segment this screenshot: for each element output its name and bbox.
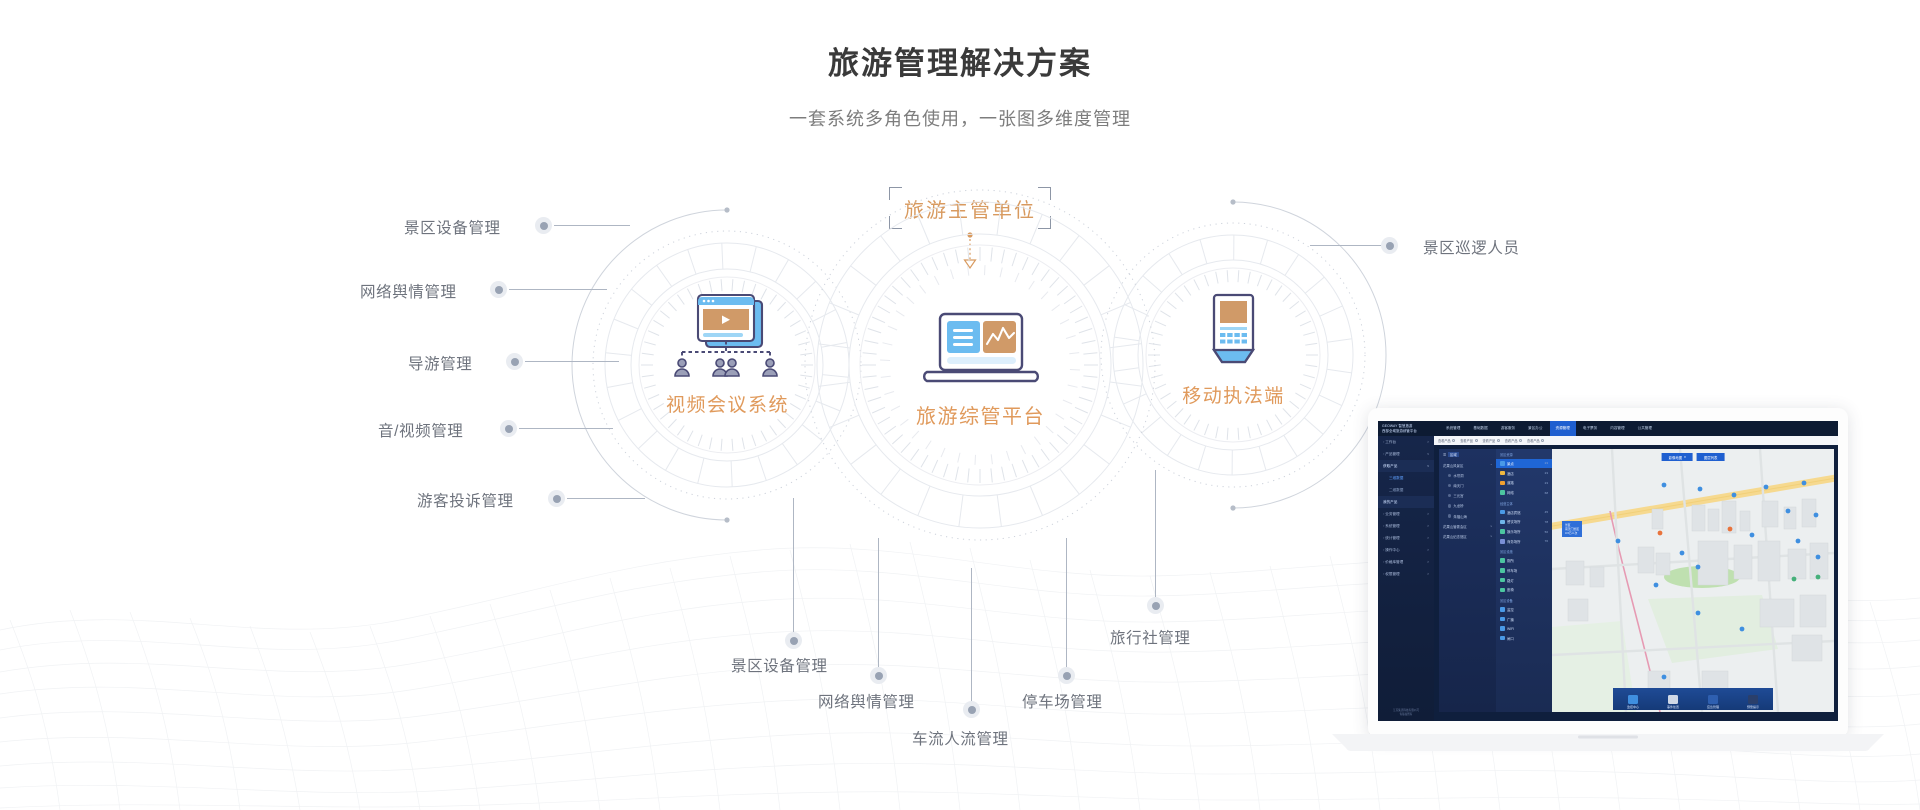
sidebar-item-label-4: 二维数据 xyxy=(1389,488,1403,493)
node-tourism-platform: 旅游综管平台 xyxy=(893,300,1068,435)
layer-swatch-icon-1-2 xyxy=(1500,529,1505,534)
tree-item-label-2: 南天门 xyxy=(1453,483,1463,488)
tree-item-7[interactable]: 花果山纪念馆区v xyxy=(1439,531,1496,541)
node-label-tourism-platform: 旅游综管平台 xyxy=(893,400,1068,429)
tab-1[interactable]: 查看产品 xyxy=(1460,438,1477,443)
map-dock-icon-2 xyxy=(1708,695,1718,704)
map-chip-1[interactable]: 图层列表 xyxy=(1697,453,1725,461)
layer-swatch-icon-2-1 xyxy=(1500,568,1505,573)
sidebar-list[interactable]: ◦ 工作台>◦ 产品管理v获取产品v三维数据二维数据我的产品◦ 业务管理>◦ 系… xyxy=(1378,436,1434,580)
tab-4[interactable]: 查看产品 xyxy=(1527,438,1544,443)
layer-item-3-1[interactable]: 广播 xyxy=(1496,614,1552,624)
region-tree-list[interactable]: 花果山风景区^水帘洞南天门三元宫九龙桥朱福山海花果山管委会区v花果山纪念馆区v xyxy=(1439,460,1496,542)
sidebar-chevron-icon-2: v xyxy=(1427,464,1429,468)
topnav-item-7[interactable]: 公共管理 xyxy=(1632,421,1658,436)
page-title: 旅游管理解决方案 xyxy=(0,38,1920,83)
leaf-dot-left-0[interactable] xyxy=(535,217,552,234)
tree-item-0[interactable]: 花果山风景区^ xyxy=(1439,460,1496,470)
tree-item-3[interactable]: 三元宫 xyxy=(1439,491,1496,501)
layer-swatch-icon-0-3 xyxy=(1500,490,1505,495)
tab-label-0: 查看产品 xyxy=(1438,438,1451,443)
layer-item-3-0[interactable]: 监控 xyxy=(1496,604,1552,614)
map-dock-label-3: 预警提示 xyxy=(1747,705,1759,709)
layer-item-0-3[interactable]: 网络68 xyxy=(1496,488,1552,498)
map-canvas xyxy=(1552,449,1834,712)
sidebar-item-9[interactable]: ◦ 操作中心> xyxy=(1378,544,1434,556)
tree-item-label-7: 花果山纪念馆区 xyxy=(1443,534,1467,539)
map-info-popup: 景区南天门景区3.6万人次 xyxy=(1562,521,1582,537)
sidebar-item-label-5: 我的产品 xyxy=(1383,500,1397,505)
sidebar-item-label-7: ◦ 系统管理 xyxy=(1383,524,1400,529)
node-label-mobile-enforcement: 移动执法端 xyxy=(1146,381,1321,408)
sidebar-item-5[interactable]: 我的产品 xyxy=(1378,496,1434,508)
layer-item-2-1[interactable]: 停车场 xyxy=(1496,566,1552,576)
map-dock-item-0[interactable]: 监控中心 xyxy=(1627,695,1639,709)
sidebar-item-label-2: 获取产品 xyxy=(1383,464,1397,469)
layer-item-0-2[interactable]: 道路23 xyxy=(1496,478,1552,488)
layer-item-1-1[interactable]: 餐饮场所78 xyxy=(1496,517,1552,527)
map-dock-label-1: 事件处置 xyxy=(1667,705,1679,709)
leaf-dot-bottom-0[interactable] xyxy=(785,632,802,649)
layer-swatch-icon-3-3 xyxy=(1500,636,1505,641)
sidebar-item-2[interactable]: 获取产品v xyxy=(1378,460,1434,472)
layer-swatch-icon-1-3 xyxy=(1500,539,1505,544)
tab-2[interactable]: 查看产品 xyxy=(1483,438,1500,443)
layer-item-label-2-2: 路灯 xyxy=(1507,578,1514,583)
layer-swatch-icon-2-3 xyxy=(1500,588,1505,593)
leaf-line-bottom-0 xyxy=(793,498,794,633)
layer-item-count-0-3: 68 xyxy=(1545,491,1548,495)
map-bottom-dock[interactable]: 监控中心事件处置应急管理预警提示 xyxy=(1613,688,1773,710)
app-tabstrip[interactable]: 查看产品查看产品查看产品查看产品查看产品 xyxy=(1434,436,1838,445)
tab-label-4: 查看产品 xyxy=(1527,438,1540,443)
sidebar-item-label-0: ◦ 工作台 xyxy=(1383,440,1396,445)
leaf-label-bottom-0: 景区设备管理 xyxy=(731,654,828,676)
solution-diagram-page: 旅游管理解决方案 一套系统多角色使用，一张图多维度管理 旅游主管单位 xyxy=(0,0,1920,810)
tree-bullet-icon-4 xyxy=(1448,504,1451,507)
map-dock-item-1[interactable]: 事件处置 xyxy=(1667,695,1679,709)
sidebar-item-label-1: ◦ 产品管理 xyxy=(1383,452,1400,457)
tree-item-label-3: 三元宫 xyxy=(1453,493,1463,498)
laptop-dashboard-icon xyxy=(893,300,1068,400)
map-dock-item-3[interactable]: 预警提示 xyxy=(1747,695,1759,709)
sidebar-item-label-11: ◦ 权限管理 xyxy=(1383,572,1400,577)
tree-bullet-icon-2 xyxy=(1448,484,1451,487)
tab-close-icon-2[interactable] xyxy=(1497,439,1500,442)
sidebar-item-0[interactable]: ◦ 工作台> xyxy=(1378,436,1434,448)
leaf-dot-left-3[interactable] xyxy=(500,420,517,437)
sidebar-chevron-icon-11: > xyxy=(1427,572,1429,576)
layer-group-title-2: 景区设施 xyxy=(1496,546,1552,556)
leaf-line-bottom-3 xyxy=(1066,538,1067,668)
leaf-dot-right-0[interactable] xyxy=(1381,237,1398,254)
topnav-item-3[interactable]: 景区办公 xyxy=(1522,421,1548,436)
leaf-line-left-1 xyxy=(509,289,607,290)
layer-swatch-icon-3-2 xyxy=(1500,626,1505,631)
leaf-line-bottom-4 xyxy=(1155,470,1156,598)
map-chip-group[interactable]: 影像地图v图层列表 xyxy=(1662,453,1725,461)
leaf-dot-bottom-1[interactable] xyxy=(870,667,887,684)
map-dock-label-0: 监控中心 xyxy=(1627,705,1639,709)
sidebar-chevron-icon-10: > xyxy=(1427,560,1429,564)
tab-label-3: 查看产品 xyxy=(1505,438,1518,443)
layer-swatch-icon-0-1 xyxy=(1500,471,1505,476)
layer-group-title-1: 经营主体 xyxy=(1496,498,1552,508)
app-window: GEOWAY 智慧旅游 西部全域旅游综管平台 系统管理基础数据游客服务景区办公资… xyxy=(1378,421,1838,721)
tree-bullet-icon-1 xyxy=(1448,474,1451,477)
tree-item-label-5: 朱福山海 xyxy=(1453,514,1467,519)
laptop-base xyxy=(1332,734,1884,752)
sidebar-chevron-icon-7: > xyxy=(1427,524,1429,528)
sidebar-item-3[interactable]: 三维数据 xyxy=(1378,472,1434,484)
tree-item-2[interactable]: 南天门 xyxy=(1439,480,1496,490)
sidebar-item-label-10: ◦ 价格库管理 xyxy=(1383,560,1403,565)
layer-item-count-0-1: 23 xyxy=(1545,471,1548,475)
layer-item-label-0-0: 景点 xyxy=(1507,461,1514,466)
map-chip-0[interactable]: 影像地图v xyxy=(1662,453,1693,461)
tree-item-6[interactable]: 花果山管委会区v xyxy=(1439,521,1496,531)
app-logo-line2: 西部全域旅游综管平台 xyxy=(1382,429,1440,434)
sidebar-item-7[interactable]: ◦ 系统管理> xyxy=(1378,520,1434,532)
leaf-line-bottom-2 xyxy=(971,568,972,702)
layer-item-label-3-1: 广播 xyxy=(1507,617,1514,622)
layer-item-label-2-0: 厕所 xyxy=(1507,558,1514,563)
layer-swatch-icon-0-2 xyxy=(1500,481,1505,486)
layer-item-label-1-3: 商务场所 xyxy=(1507,539,1521,544)
topnav-item-2[interactable]: 游客服务 xyxy=(1495,421,1521,436)
leaf-dot-bottom-3[interactable] xyxy=(1058,667,1075,684)
node-label-video-conference: 视频会议系统 xyxy=(640,390,815,417)
tab-close-icon-3[interactable] xyxy=(1519,439,1522,442)
layer-item-count-0-0: 23 xyxy=(1545,461,1548,465)
layer-swatch-icon-2-0 xyxy=(1500,558,1505,563)
layer-item-3-2[interactable]: WIFI xyxy=(1496,624,1552,633)
sidebar-item-label-8: ◦ 统计管理 xyxy=(1383,536,1400,541)
leaf-label-bottom-1: 网络舆情管理 xyxy=(818,690,915,712)
layer-group-title-3: 景区设备 xyxy=(1496,595,1552,605)
tree-bullet-icon-3 xyxy=(1448,494,1451,497)
leaf-dot-left-2[interactable] xyxy=(506,353,523,370)
layer-item-label-3-0: 监控 xyxy=(1507,607,1514,612)
layer-item-2-2[interactable]: 路灯 xyxy=(1496,575,1552,585)
node-video-conference: 视频会议系统 xyxy=(640,290,815,420)
layer-item-2-3[interactable]: 座椅 xyxy=(1496,585,1552,595)
tab-0[interactable]: 查看产品 xyxy=(1438,438,1455,443)
laptop-mockup: GEOWAY 智慧旅游 西部全域旅游综管平台 系统管理基础数据游客服务景区办公资… xyxy=(1368,408,1920,800)
sidebar-footer: 江苏集思科技有限公司 专版权所有 xyxy=(1378,709,1434,717)
sidebar-item-label-6: ◦ 业务管理 xyxy=(1383,512,1400,517)
app-logo: GEOWAY 智慧旅游 西部全域旅游综管平台 xyxy=(1378,421,1440,436)
leaf-dot-left-1[interactable] xyxy=(490,281,507,298)
leaf-line-left-0 xyxy=(554,225,630,226)
app-sidebar[interactable]: ◦ 工作台>◦ 产品管理v获取产品v三维数据二维数据我的产品◦ 业务管理>◦ 系… xyxy=(1378,436,1434,721)
leaf-label-left-0: 景区设备管理 xyxy=(404,216,501,238)
tree-item-label-6: 花果山管委会区 xyxy=(1443,524,1467,529)
map-dock-label-2: 应急管理 xyxy=(1707,705,1719,709)
leaf-label-right-0: 景区巡逻人员 xyxy=(1423,236,1520,258)
layer-item-count-1-3: 76 xyxy=(1545,539,1548,543)
tree-item-1[interactable]: 水帘洞 xyxy=(1439,470,1496,480)
tree-chevron-icon-0[interactable]: ^ xyxy=(1491,463,1492,467)
leaf-line-left-3 xyxy=(519,428,613,429)
leaf-line-left-2 xyxy=(525,361,619,362)
handheld-device-icon xyxy=(1146,285,1321,385)
leaf-label-left-1: 网络舆情管理 xyxy=(360,280,457,302)
map-popup-line-2: 3.6万人次 xyxy=(1565,531,1579,535)
leaf-dot-bottom-2[interactable] xyxy=(963,701,980,718)
sidebar-item-11[interactable]: ◦ 权限管理> xyxy=(1378,568,1434,580)
app-topnav[interactable]: 系统管理基础数据游客服务景区办公资源管理电子票务内容管理公共管理 xyxy=(1440,421,1658,436)
layer-item-1-3[interactable]: 商务场所76 xyxy=(1496,536,1552,546)
tree-item-label-0: 花果山风景区 xyxy=(1443,463,1463,468)
leaf-label-left-4: 游客投诉管理 xyxy=(417,489,514,511)
layer-swatch-icon-1-0 xyxy=(1500,510,1505,515)
tab-label-2: 查看产品 xyxy=(1483,438,1496,443)
sidebar-item-1[interactable]: ◦ 产品管理v xyxy=(1378,448,1434,460)
sidebar-item-4[interactable]: 二维数据 xyxy=(1378,484,1434,496)
layer-item-count-1-2: 56 xyxy=(1545,530,1548,534)
leaf-label-bottom-4: 旅行社管理 xyxy=(1110,626,1191,648)
sidebar-item-label-3: 三维数据 xyxy=(1389,476,1403,481)
layer-item-count-1-1: 78 xyxy=(1545,520,1548,524)
topnav-item-4[interactable]: 资源管理 xyxy=(1550,421,1576,436)
leaf-line-left-4 xyxy=(567,498,645,499)
map-chip-label-1: 图层列表 xyxy=(1704,455,1718,460)
layer-item-3-3[interactable]: 闸口 xyxy=(1496,633,1552,643)
laptop-screen-bezel: GEOWAY 智慧旅游 西部全域旅游综管平台 系统管理基础数据游客服务景区办公资… xyxy=(1368,408,1848,738)
video-window-icon xyxy=(640,290,815,390)
leaf-line-right-0 xyxy=(1310,245,1382,246)
node-mobile-enforcement: 移动执法端 xyxy=(1146,285,1321,415)
leaf-dot-left-4[interactable] xyxy=(548,490,565,507)
leaf-dot-bottom-4[interactable] xyxy=(1147,597,1164,614)
page-subtitle: 一套系统多角色使用，一张图多维度管理 xyxy=(0,105,1920,131)
app-topbar: GEOWAY 智慧旅游 西部全域旅游综管平台 系统管理基础数据游客服务景区办公资… xyxy=(1378,421,1838,436)
layer-swatch-icon-0-0 xyxy=(1500,461,1505,466)
layer-item-label-1-1: 餐饮场所 xyxy=(1507,519,1521,524)
region-tree-panel[interactable]: ☰ 区域 花果山风景区^水帘洞南天门三元宫九龙桥朱福山海花果山管委会区v花果山纪… xyxy=(1439,449,1496,712)
topnav-item-5[interactable]: 电子票务 xyxy=(1577,421,1603,436)
layer-item-count-0-2: 23 xyxy=(1545,481,1548,485)
layer-panel[interactable]: 景区资源景点23酒店23道路23网络68经营主体酒店宾馆45餐饮场所78娱乐场所… xyxy=(1496,449,1552,712)
map-chip-label-0: 影像地图 xyxy=(1669,455,1683,460)
leaf-label-left-3: 音/视频管理 xyxy=(378,419,463,441)
tab-close-icon-0[interactable] xyxy=(1452,439,1455,442)
map-dock-icon-0 xyxy=(1628,695,1638,704)
tree-item-label-4: 九龙桥 xyxy=(1453,503,1463,508)
map-dock-icon-3 xyxy=(1748,695,1758,704)
layer-item-1-2[interactable]: 娱乐场所56 xyxy=(1496,527,1552,537)
sidebar-chevron-icon-1: v xyxy=(1427,452,1429,456)
tab-label-1: 查看产品 xyxy=(1460,438,1473,443)
tab-close-icon-4[interactable] xyxy=(1541,439,1544,442)
layer-item-label-3-3: 闸口 xyxy=(1507,636,1514,641)
layer-swatch-icon-3-0 xyxy=(1500,607,1505,612)
layer-item-label-3-2: WIFI xyxy=(1507,627,1514,631)
layer-swatch-icon-3-1 xyxy=(1500,617,1505,622)
map-dock-icon-1 xyxy=(1668,695,1678,704)
layer-item-1-0[interactable]: 酒店宾馆45 xyxy=(1496,507,1552,517)
layer-item-label-1-0: 酒店宾馆 xyxy=(1507,510,1521,515)
layer-item-0-1[interactable]: 酒店23 xyxy=(1496,468,1552,478)
sidebar-chevron-icon-8: > xyxy=(1427,536,1429,540)
layer-item-label-2-1: 停车场 xyxy=(1507,568,1517,573)
layer-group-title-0: 景区资源 xyxy=(1496,449,1552,459)
sidebar-item-10[interactable]: ◦ 价格库管理> xyxy=(1378,556,1434,568)
layer-swatch-icon-2-2 xyxy=(1500,578,1505,583)
sidebar-item-label-9: ◦ 操作中心 xyxy=(1383,548,1400,553)
tree-chevron-icon-7[interactable]: v xyxy=(1491,534,1493,538)
layer-item-0-0[interactable]: 景点23 xyxy=(1496,459,1552,469)
layer-item-label-0-3: 网络 xyxy=(1507,490,1514,495)
leaf-line-bottom-1 xyxy=(878,538,879,668)
tab-3[interactable]: 查看产品 xyxy=(1505,438,1522,443)
tree-item-5[interactable]: 朱福山海 xyxy=(1439,511,1496,521)
region-tree-header-label: 区域 xyxy=(1448,452,1459,457)
sidebar-item-6[interactable]: ◦ 业务管理> xyxy=(1378,508,1434,520)
layer-item-label-1-2: 娱乐场所 xyxy=(1507,529,1521,534)
leaf-label-left-2: 导游管理 xyxy=(408,352,472,374)
tree-chevron-icon-6[interactable]: v xyxy=(1491,524,1493,528)
sidebar-chevron-icon-6: > xyxy=(1427,512,1429,516)
sidebar-chevron-icon-0: > xyxy=(1427,440,1429,444)
leaf-label-bottom-2: 车流人流管理 xyxy=(912,727,1009,749)
leaf-label-bottom-3: 停车场管理 xyxy=(1022,690,1103,712)
hamburger-icon: ☰ xyxy=(1443,453,1446,457)
sidebar-footer-line2: 专版权所有 xyxy=(1378,713,1434,717)
layer-item-label-0-1: 酒店 xyxy=(1507,471,1514,476)
layer-item-label-2-3: 座椅 xyxy=(1507,587,1514,592)
layer-item-2-0[interactable]: 厕所 xyxy=(1496,556,1552,566)
region-tree-header: ☰ 区域 xyxy=(1439,449,1496,460)
chevron-down-icon-0: v xyxy=(1684,455,1686,459)
layer-swatch-icon-1-1 xyxy=(1500,520,1505,525)
map-view[interactable]: 影像地图v图层列表 景区南天门景区3.6万人次 监控中心事件处置应急管理预警提示 xyxy=(1552,449,1834,712)
sidebar-item-8[interactable]: ◦ 统计管理> xyxy=(1378,532,1434,544)
topnav-item-1[interactable]: 基础数据 xyxy=(1467,421,1493,436)
tree-item-label-1: 水帘洞 xyxy=(1453,473,1463,478)
layer-item-count-1-0: 45 xyxy=(1545,510,1548,514)
layer-item-label-0-2: 道路 xyxy=(1507,480,1514,485)
tab-close-icon-1[interactable] xyxy=(1475,439,1478,442)
tree-bullet-icon-5 xyxy=(1448,514,1451,517)
map-dock-item-2[interactable]: 应急管理 xyxy=(1707,695,1719,709)
tree-item-4[interactable]: 九龙桥 xyxy=(1439,501,1496,511)
sidebar-chevron-icon-9: > xyxy=(1427,548,1429,552)
topnav-item-6[interactable]: 内容管理 xyxy=(1604,421,1630,436)
topnav-item-0[interactable]: 系统管理 xyxy=(1440,421,1466,436)
